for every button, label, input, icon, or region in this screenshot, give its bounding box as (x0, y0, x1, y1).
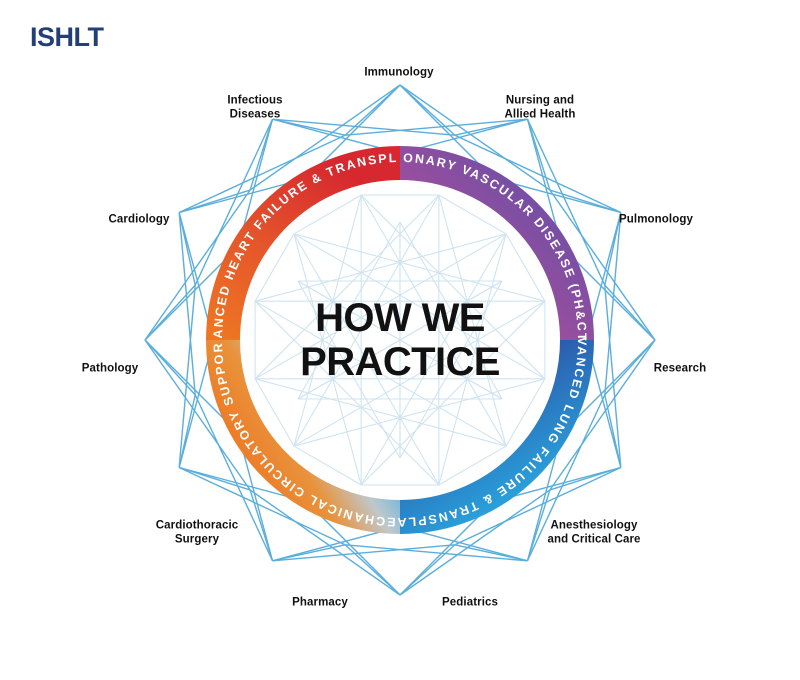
spoke-label-cardiology[interactable]: Cardiology (108, 213, 169, 227)
spoke-label-cardiothoracic-surgery[interactable]: Cardiothoracic Surgery (156, 520, 239, 547)
spoke-label-nursing-and-allied-health[interactable]: Nursing and Allied Health (505, 95, 576, 122)
spoke-label-pathology[interactable]: Pathology (82, 362, 139, 376)
spoke-label-anesthesiology-and-critical-care[interactable]: Anesthesiology and Critical Care (547, 520, 640, 547)
spoke-label-immunology[interactable]: Immunology (364, 66, 433, 80)
spoke-label-infectious-diseases[interactable]: Infectious Diseases (227, 95, 282, 122)
spoke-label-pediatrics[interactable]: Pediatrics (442, 596, 498, 610)
how-we-practice-diagram: PULMONARY VASCULAR DISEASE (PH&CTEPH) AD… (0, 0, 800, 680)
page-root: ISHLT (0, 0, 800, 680)
spoke-label-pharmacy[interactable]: Pharmacy (292, 596, 348, 610)
center-title: HOW WE PRACTICE (300, 296, 500, 384)
spoke-label-research[interactable]: Research (654, 362, 707, 376)
spoke-label-pulmonology[interactable]: Pulmonology (619, 213, 693, 227)
